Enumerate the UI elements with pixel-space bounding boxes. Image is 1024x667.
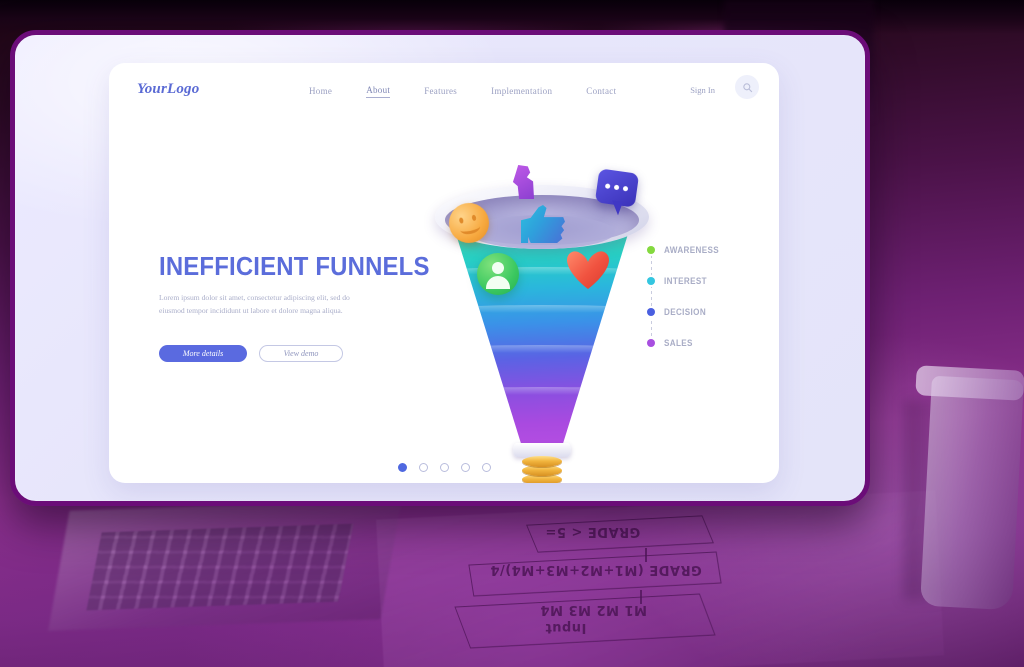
background-coffee-cup [920,376,1024,610]
nav-item-implementation[interactable]: Implementation [491,86,552,98]
legend-dot-sales [647,339,655,347]
chat-dot [614,185,620,191]
legend-label-awareness: AWARENESS [664,245,719,255]
sketch-arrow-1 [645,548,647,562]
nav-item-contact[interactable]: Contact [586,86,616,98]
sign-in-link[interactable]: Sign In [690,85,715,95]
sketch-text-grade-formula: GRADE (M1+M2+M3+M4)/4 [490,562,702,577]
funnel-ring [447,345,637,353]
legend-label-decision: DECISION [664,307,706,317]
background-coffee-cup-lid [915,365,1024,401]
coin [522,456,562,467]
smiley-eye-right [471,214,476,221]
more-details-button[interactable]: More details [159,345,247,362]
carousel-pagination [398,463,491,472]
smiley-eye-left [459,217,464,224]
legend-label-interest: INTEREST [664,276,707,286]
sketch-text-grade-condition: GRADE < 5= [545,524,640,539]
hero-actions: More details View demo [159,345,343,362]
legend-dot-decision [647,308,655,316]
user-avatar-icon [477,253,519,295]
sketch-arrow-2 [640,590,642,604]
brand-logo[interactable]: YourLogo [137,81,199,98]
nav-item-about[interactable]: About [366,85,390,98]
funnel-stage-legend: AWARENESS INTEREST DECISION SALES [647,241,757,361]
legend-dot-interest [647,277,655,285]
coin-stack [522,453,562,483]
legend-dot-awareness [647,246,655,254]
legend-item-sales[interactable]: SALES [647,338,696,348]
carousel-dot-5[interactable] [482,463,491,472]
chat-dot [623,186,629,192]
funnel-ring [447,305,637,313]
avatar-head [492,262,504,274]
view-demo-button[interactable]: View demo [259,345,343,362]
background-keyboard [86,524,353,611]
legend-item-decision[interactable]: DECISION [647,307,711,317]
carousel-dot-4[interactable] [461,463,470,472]
carousel-dot-2[interactable] [419,463,428,472]
sketch-text-input: Input [545,620,586,635]
legend-connector-line [651,249,652,349]
funnel-ring [447,267,637,275]
legend-label-sales: SALES [664,338,693,348]
search-button[interactable] [735,75,759,99]
funnel-ring [447,387,637,395]
site-navigation-bar: YourLogo Home About Features Implementat… [109,63,779,121]
website-page-card: YourLogo Home About Features Implementat… [109,63,779,483]
avatar-body [486,276,510,289]
tablet-device-frame: YourLogo Home About Features Implementat… [10,30,870,506]
chat-bubble-tail-icon [610,200,623,215]
legend-item-awareness[interactable]: AWARENESS [647,245,725,255]
chat-dot [605,183,611,189]
nav-item-home[interactable]: Home [309,86,332,98]
search-icon [742,82,753,93]
hero-paragraph: Lorem ipsum dolor sit amet, consectetur … [159,291,359,317]
carousel-dot-3[interactable] [440,463,449,472]
page-title: INEFFICIENT FUNNELS [159,251,430,282]
nav-item-features[interactable]: Features [424,86,457,98]
sketch-text-modules: M1 M2 M3 M4 [540,602,647,617]
nav-links: Home About Features Implementation Conta… [309,85,616,98]
carousel-dot-1[interactable] [398,463,407,472]
legend-item-interest[interactable]: INTEREST [647,276,712,286]
